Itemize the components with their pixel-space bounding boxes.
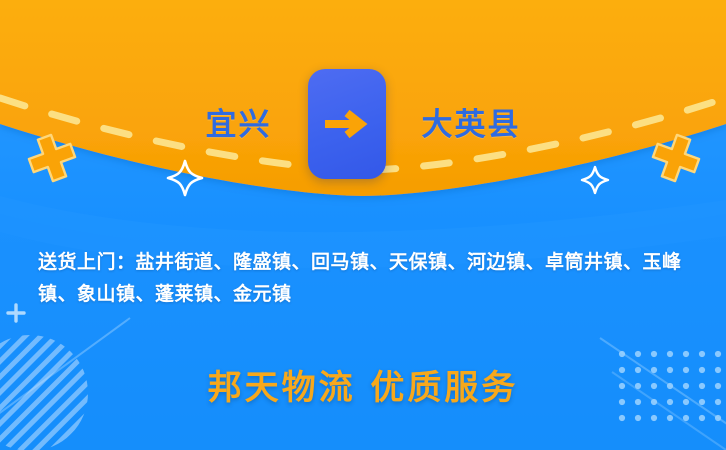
destination-city-label: 大英县 [422, 110, 521, 141]
origin-city-label: 宜兴 [206, 110, 272, 141]
logistics-route-banner: 宜兴 大英县 送货上门：盐井街道、隆盛镇、回马镇、天保镇、河边镇、卓筒井镇、玉峰… [0, 0, 726, 450]
arrow-right-icon [321, 104, 373, 144]
company-slogan: 邦天物流 优质服务 [0, 360, 726, 409]
sparkle-right-icon [582, 167, 608, 193]
delivery-coverage-text: 送货上门：盐井街道、隆盛镇、回马镇、天保镇、河边镇、卓筒井镇、玉峰镇、象山镇、蓬… [38, 246, 698, 310]
route-row: 宜兴 大英县 [0, 82, 726, 168]
direction-arrow-button[interactable] [308, 69, 386, 179]
